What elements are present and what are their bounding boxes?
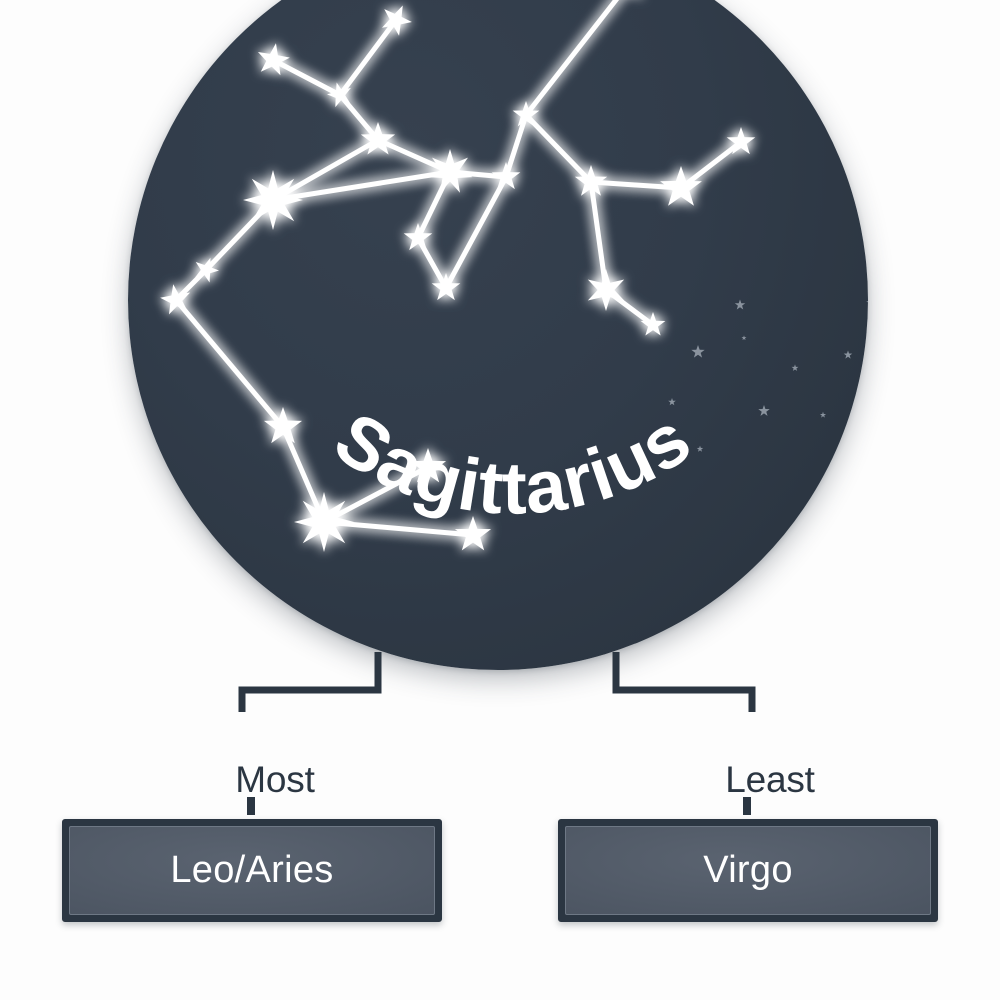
most-compatible-value: Leo/Aries [170, 849, 333, 892]
least-compatible-box[interactable]: Virgo [558, 819, 938, 922]
zodiac-compatibility-infographic: Sagittarius Most Compatible Least Compat… [0, 0, 1000, 1000]
most-compatible-box-inner: Leo/Aries [69, 826, 435, 915]
least-compatible-caption-line1: Least [585, 759, 955, 800]
most-compatible-box[interactable]: Leo/Aries [62, 819, 442, 922]
bracket-right [616, 652, 752, 712]
bracket-left [242, 652, 378, 712]
most-compatible-caption-line1: Most [90, 759, 460, 800]
least-compatible-value: Virgo [703, 849, 793, 892]
least-compatible-box-inner: Virgo [565, 826, 931, 915]
